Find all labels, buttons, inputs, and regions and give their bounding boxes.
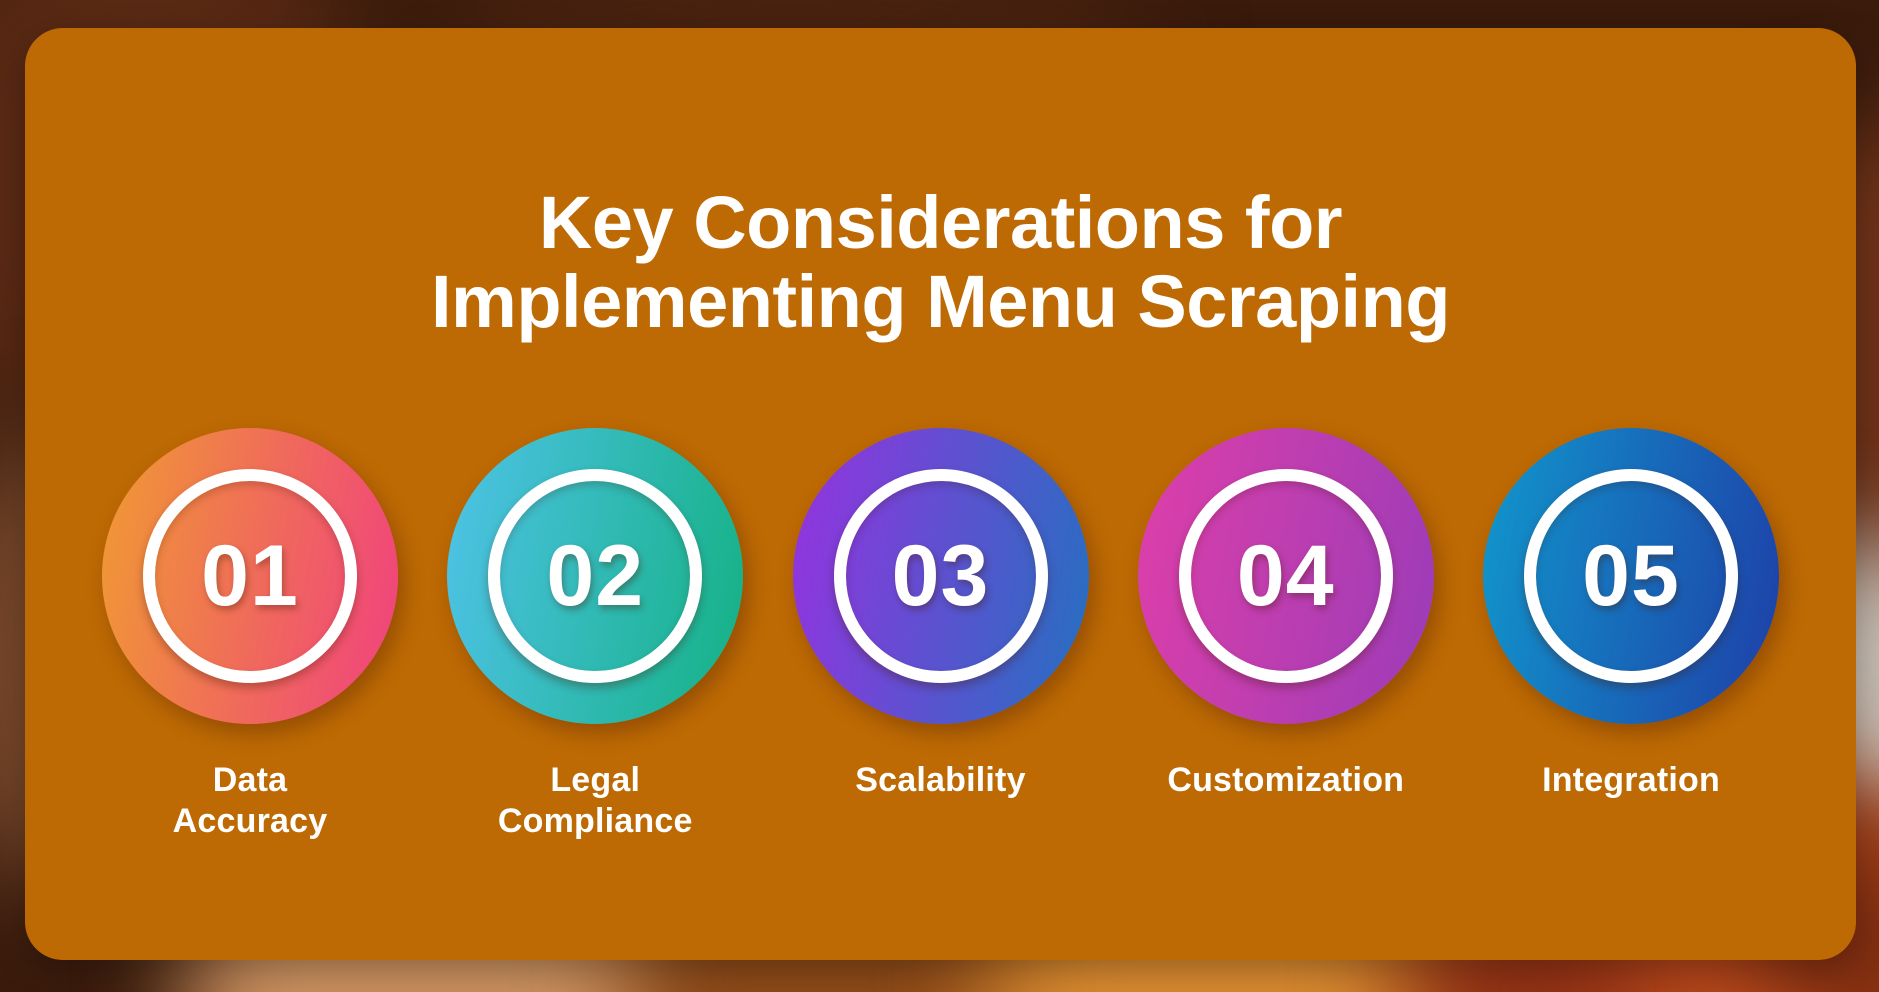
step-number-03: 03 <box>892 533 990 619</box>
page-title: Key Considerations for Implementing Menu… <box>25 183 1856 343</box>
step-number-02: 02 <box>546 533 644 619</box>
step-item-04[interactable]: 04 Customization <box>1121 428 1451 801</box>
step-item-02[interactable]: 02 Legal Compliance <box>430 428 760 843</box>
step-label-02: Legal Compliance <box>498 760 693 843</box>
step-label-04: Customization <box>1167 760 1404 801</box>
step-circle-02[interactable]: 02 <box>447 428 743 724</box>
page-title-line-1: Key Considerations for <box>205 183 1676 263</box>
step-circle-01[interactable]: 01 <box>102 428 398 724</box>
step-item-01[interactable]: 01 Data Accuracy <box>85 428 415 843</box>
step-label-03: Scalability <box>855 760 1025 801</box>
infographic-card: Key Considerations for Implementing Menu… <box>25 28 1856 960</box>
step-circle-04[interactable]: 04 <box>1138 428 1434 724</box>
step-circle-03[interactable]: 03 <box>793 428 1089 724</box>
step-label-05: Integration <box>1542 760 1720 801</box>
page-title-line-2: Implementing Menu Scraping <box>205 262 1676 342</box>
step-circle-05[interactable]: 05 <box>1483 428 1779 724</box>
step-label-01: Data Accuracy <box>173 760 328 843</box>
step-item-03[interactable]: 03 Scalability <box>776 428 1106 801</box>
step-number-01: 01 <box>201 533 299 619</box>
step-item-05[interactable]: 05 Integration <box>1466 428 1796 801</box>
step-number-04: 04 <box>1237 533 1335 619</box>
steps-row: 01 Data Accuracy 02 Legal Compliance 03 … <box>85 428 1796 843</box>
step-number-05: 05 <box>1582 533 1680 619</box>
